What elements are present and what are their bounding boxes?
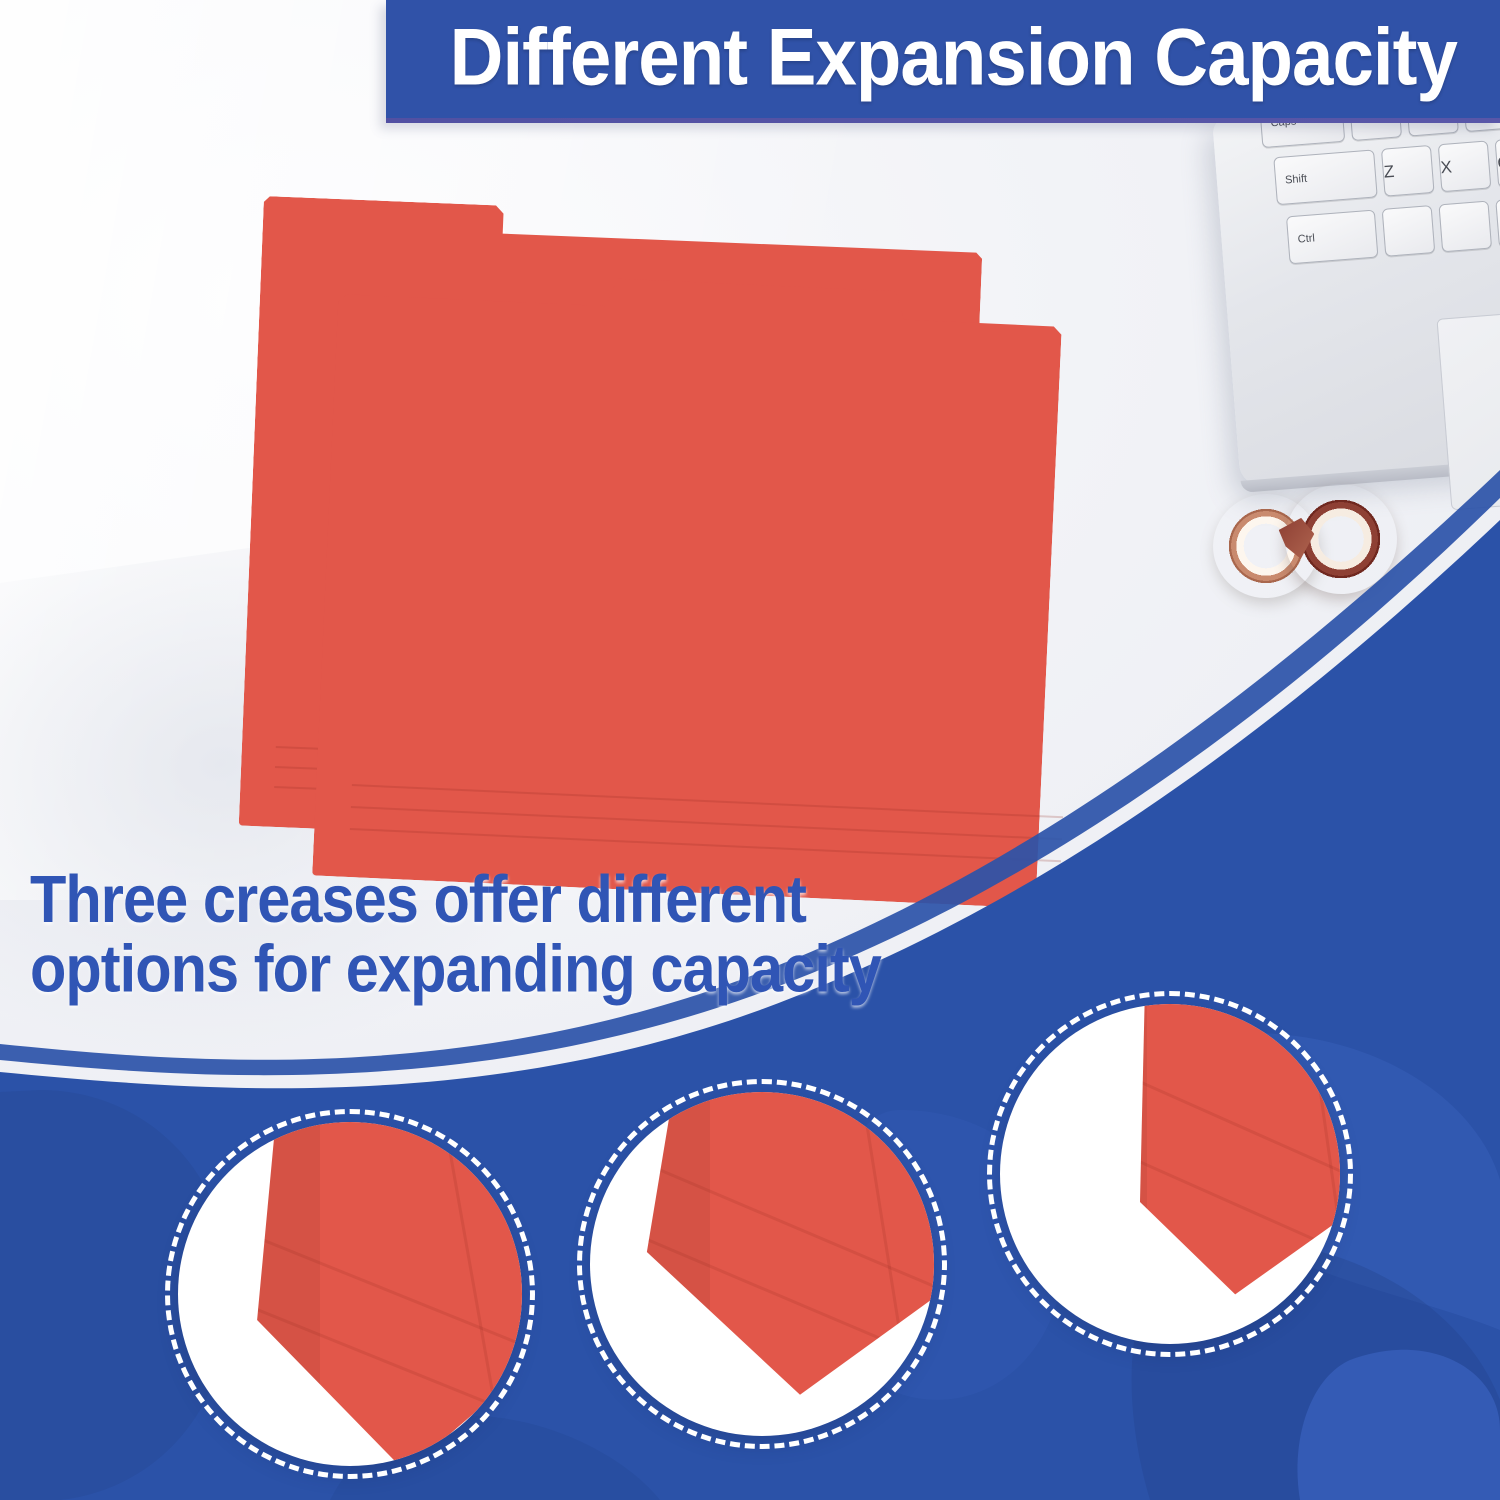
tagline: Three creases offer different options fo… <box>30 866 875 1004</box>
tagline-line-2: options for expanding capacity <box>30 935 875 1004</box>
detail-circle-3 <box>1000 1004 1340 1344</box>
crease-line <box>639 1235 934 1379</box>
folder-corner-3 <box>1072 1004 1340 1328</box>
page-title: Different Expansion Capacity <box>450 11 1457 103</box>
product-feature-image: Caps A Shift Z X C <box>0 0 1500 1500</box>
fold-panel <box>234 1122 320 1466</box>
detail-circle-1 <box>178 1122 522 1466</box>
crease-line <box>1092 1059 1340 1206</box>
tagline-line-1: Three creases offer different <box>30 866 875 935</box>
crease-line <box>1092 1139 1340 1286</box>
header-banner: Different Expansion Capacity <box>386 0 1500 123</box>
folder-corner-2 <box>626 1092 934 1420</box>
fold-panel <box>1072 1004 1147 1328</box>
detail-circle-2 <box>590 1092 934 1436</box>
